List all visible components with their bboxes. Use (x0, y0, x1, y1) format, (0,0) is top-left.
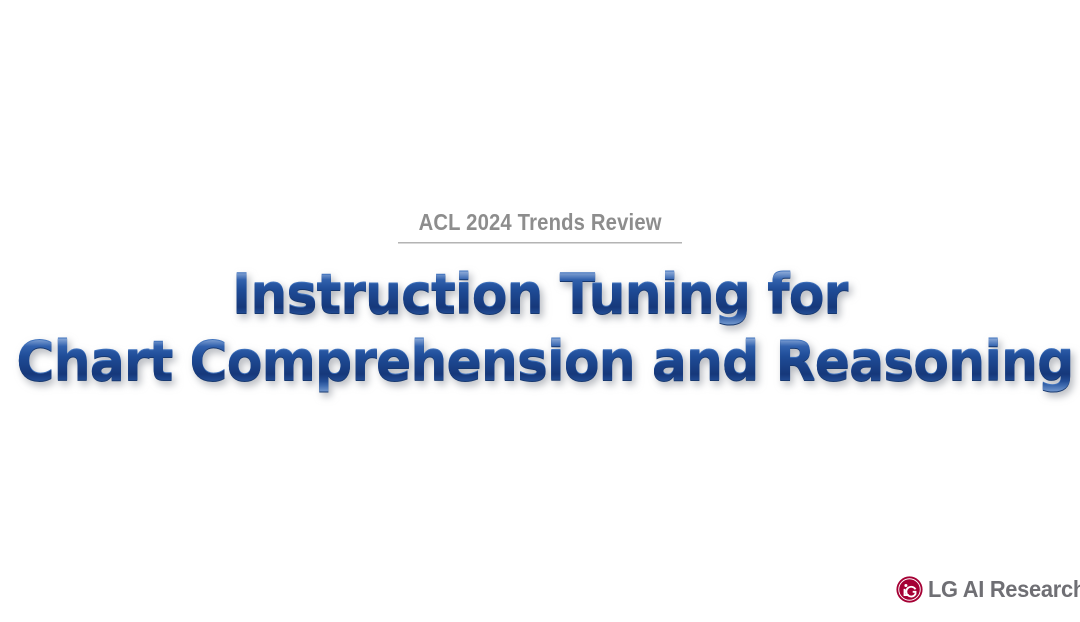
title-line-2-text: Chart Comprehension and Reasoning (16, 330, 1073, 393)
eyebrow-text: ACL 2024 Trends Review (418, 208, 661, 236)
title-line-1: Instruction Tuning for Instruction Tunin… (16, 262, 1064, 328)
eyebrow-divider (398, 242, 682, 244)
eyebrow-block: ACL 2024 Trends Review (0, 208, 1080, 244)
title-line-1-text: Instruction Tuning for (232, 263, 848, 326)
page-title: Instruction Tuning for Instruction Tunin… (0, 262, 1080, 396)
title-line-1-glossy: Instruction Tuning for Instruction Tunin… (232, 262, 848, 328)
lg-circle-face-icon (896, 576, 923, 603)
lg-ai-research-logo: LG AI Research (896, 576, 1080, 603)
title-line-2-glossy: Chart Comprehension and Reasoning Chart … (16, 328, 1073, 396)
lg-ai-research-wordmark: LG AI Research (928, 576, 1080, 603)
title-line-2: Chart Comprehension and Reasoning Chart … (16, 328, 1064, 396)
title-slide: ACL 2024 Trends Review Instruction Tunin… (0, 0, 1080, 622)
